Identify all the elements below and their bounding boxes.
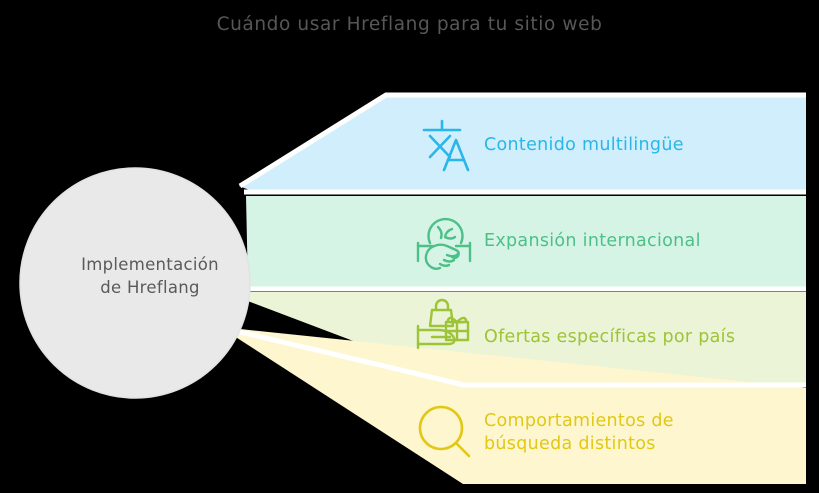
row-label-ofertas-especificas-por-pais: Ofertas específicas por país (484, 326, 735, 349)
row-label-line1: Ofertas específicas por país (484, 326, 735, 349)
row-label-line1: Contenido multilingüe (484, 134, 684, 157)
row-label-line1: Expansión internacional (484, 230, 701, 253)
row-label-contenido-multilingue: Contenido multilingüe (484, 134, 684, 157)
row-label-expansion-internacional: Expansión internacional (484, 230, 701, 253)
row-label-line2: búsqueda distintos (484, 433, 674, 456)
row-label-comportamientos-de-busqueda-distintos: Comportamientos de búsqueda distintos (484, 410, 674, 456)
infographic-canvas: Cuándo usar Hreflang para tu sitio web (0, 0, 819, 493)
row-label-line1: Comportamientos de (484, 410, 674, 433)
hub-circle[interactable] (20, 168, 250, 398)
